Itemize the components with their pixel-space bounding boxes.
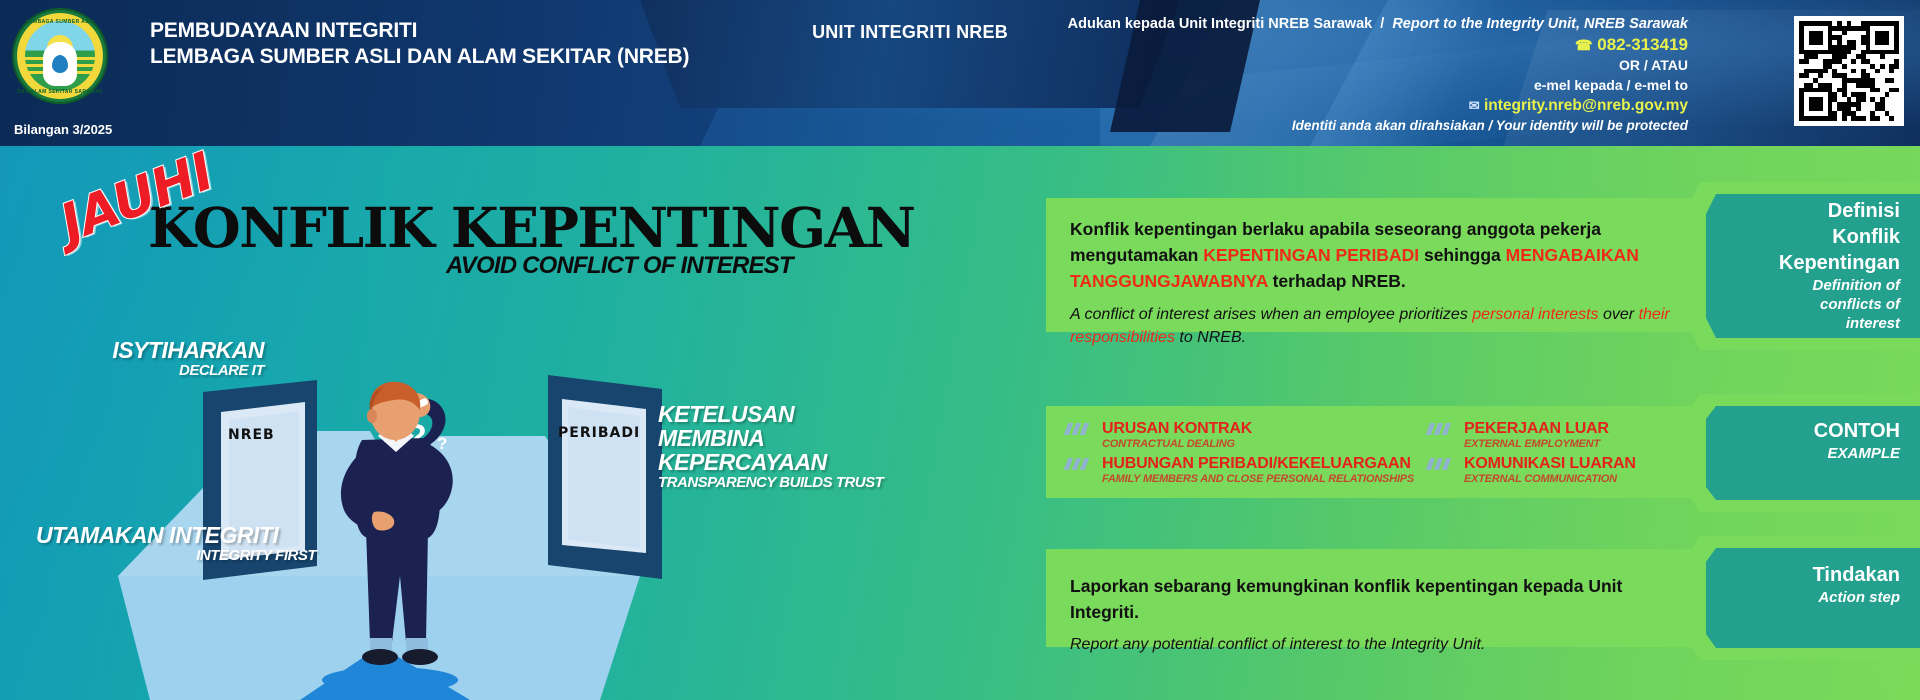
side-label-definition-ms-1: Definisi bbox=[1700, 198, 1900, 224]
side-label-action: Tindakan Action step bbox=[1700, 562, 1900, 607]
qr-code[interactable] bbox=[1794, 16, 1904, 126]
org-title: PEMBUDAYAAN INTEGRITI LEMBAGA SUMBER ASL… bbox=[150, 18, 689, 70]
nreb-logo: LEMBAGA SUMBER ASLI DAN ALAM SEKITAR SAR… bbox=[12, 8, 108, 104]
card-action: Laporkan sebarang kemungkinan konflik ke… bbox=[1046, 549, 1706, 647]
email-label: e-mel kepada / e-mel to bbox=[968, 75, 1688, 95]
action-text-en: Report any potential conflict of interes… bbox=[1070, 633, 1682, 657]
label-integrity-first-ms: UTAMAKAN INTEGRITI bbox=[36, 523, 316, 547]
side-label-definition: Definisi Konflik Kepentingan Definition … bbox=[1700, 198, 1900, 333]
side-label-definition-en-1: Definition of bbox=[1700, 276, 1900, 295]
report-line-ms: Adukan kepada Unit Integriti NREB Sarawa… bbox=[1068, 16, 1373, 32]
definition-en-c: to NREB. bbox=[1175, 329, 1246, 346]
definition-ms-red1: KEPENTINGAN PERIBADI bbox=[1203, 245, 1419, 265]
definition-ms-b: sehingga bbox=[1419, 245, 1506, 265]
definition-text-en: A conflict of interest arises when an em… bbox=[1070, 303, 1682, 349]
report-contact-block: Adukan kepada Unit Integriti NREB Sarawa… bbox=[968, 14, 1688, 135]
poster-canvas: LEMBAGA SUMBER ASLI DAN ALAM SEKITAR SAR… bbox=[0, 0, 1920, 700]
example-item-ms: PEKERJAAN LUAR bbox=[1464, 420, 1708, 438]
phone-icon: ☎ bbox=[1575, 37, 1592, 53]
example-item: KOMUNIKASI LUARAN EXTERNAL COMMUNICATION bbox=[1428, 455, 1708, 485]
side-label-action-en: Action step bbox=[1700, 588, 1900, 607]
or-atau-label: OR / ATAU bbox=[968, 56, 1688, 75]
email-row[interactable]: ✉ integrity.nreb@nreb.gov.my bbox=[968, 95, 1688, 116]
phone-row[interactable]: ☎ 082-313419 bbox=[968, 34, 1688, 56]
logo-text-bottom: DAN ALAM SEKITAR SARAWAK bbox=[12, 89, 108, 95]
report-line: Adukan kepada Unit Integriti NREB Sarawa… bbox=[968, 14, 1688, 34]
issue-number: Bilangan 3/2025 bbox=[14, 122, 112, 137]
email-address: integrity.nreb@nreb.gov.my bbox=[1484, 97, 1688, 114]
example-item-ms: URUSAN KONTRAK bbox=[1102, 420, 1446, 438]
page-header: LEMBAGA SUMBER ASLI DAN ALAM SEKITAR SAR… bbox=[0, 0, 1920, 146]
example-item-en: FAMILY MEMBERS AND CLOSE PERSONAL RELATI… bbox=[1102, 473, 1446, 485]
side-label-definition-ms-3: Kepentingan bbox=[1700, 250, 1900, 276]
label-integrity-first: UTAMAKAN INTEGRITI INTEGRITY FIRST bbox=[36, 523, 316, 564]
confused-man-illustration bbox=[310, 380, 510, 700]
definition-ms-c: terhadap NREB. bbox=[1268, 271, 1406, 291]
hero-subtitle: AVOID CONFLICT OF INTEREST bbox=[446, 252, 793, 280]
dash-marks-icon bbox=[1426, 458, 1458, 470]
definition-en-a: A conflict of interest arises when an em… bbox=[1070, 306, 1472, 323]
hero-title: KONFLIK KEPENTINGAN bbox=[148, 195, 915, 260]
card-examples: URUSAN KONTRAK CONTRACTUAL DEALING HUBUN… bbox=[1046, 406, 1706, 498]
dash-marks-icon bbox=[1064, 423, 1096, 435]
example-item-en: CONTRACTUAL DEALING bbox=[1102, 438, 1446, 450]
label-transparency-en: TRANSPARENCY BUILDS TRUST bbox=[658, 474, 898, 491]
definition-en-red1: personal interests bbox=[1472, 306, 1598, 323]
door-right-peribadi bbox=[540, 375, 670, 590]
example-item: PEKERJAAN LUAR EXTERNAL EMPLOYMENT bbox=[1428, 420, 1708, 450]
examples-column-left: URUSAN KONTRAK CONTRACTUAL DEALING HUBUN… bbox=[1066, 420, 1446, 490]
phone-number: 082-313419 bbox=[1597, 35, 1688, 54]
door-left-label: NREB bbox=[228, 427, 275, 443]
side-label-definition-en-2: conflicts of bbox=[1700, 295, 1900, 314]
action-text-ms: Laporkan sebarang kemungkinan konflik ke… bbox=[1070, 573, 1682, 625]
label-transparency: KETELUSAN MEMBINA KEPERCAYAAN TRANSPAREN… bbox=[658, 402, 898, 491]
logo-text-top: LEMBAGA SUMBER ASLI bbox=[12, 19, 108, 25]
side-label-example-en: EXAMPLE bbox=[1700, 444, 1900, 463]
label-declare-it-ms: ISYTIHARKAN bbox=[104, 338, 264, 362]
example-item-en: EXTERNAL EMPLOYMENT bbox=[1464, 438, 1708, 450]
identity-protected-note: Identiti anda akan dirahsiakan / Your id… bbox=[968, 116, 1688, 135]
dash-marks-icon bbox=[1064, 458, 1096, 470]
side-label-action-ms: Tindakan bbox=[1700, 562, 1900, 588]
org-title-line1: PEMBUDAYAAN INTEGRITI bbox=[150, 18, 689, 44]
label-integrity-first-en: INTEGRITY FIRST bbox=[36, 547, 316, 564]
org-title-line2: LEMBAGA SUMBER ASLI DAN ALAM SEKITAR (NR… bbox=[150, 44, 689, 70]
label-declare-it: ISYTIHARKAN DECLARE IT bbox=[104, 338, 264, 379]
label-declare-it-en: DECLARE IT bbox=[104, 362, 264, 379]
label-transparency-ms-2: KEPERCAYAAN bbox=[658, 450, 898, 474]
definition-en-b: over bbox=[1599, 306, 1639, 323]
label-transparency-ms-1: KETELUSAN MEMBINA bbox=[658, 402, 898, 450]
report-line-en: Report to the Integrity Unit, NREB Saraw… bbox=[1392, 16, 1688, 32]
example-item: URUSAN KONTRAK CONTRACTUAL DEALING bbox=[1066, 420, 1446, 450]
example-item-en: EXTERNAL COMMUNICATION bbox=[1464, 473, 1708, 485]
side-label-definition-ms-2: Konflik bbox=[1700, 224, 1900, 250]
side-label-example-ms: CONTOH bbox=[1700, 418, 1900, 444]
dash-marks-icon bbox=[1426, 423, 1458, 435]
mail-icon: ✉ bbox=[1469, 98, 1480, 113]
report-separator: / bbox=[1380, 16, 1384, 32]
examples-column-right: PEKERJAAN LUAR EXTERNAL EMPLOYMENT KOMUN… bbox=[1428, 420, 1708, 490]
example-item: HUBUNGAN PERIBADI/KEKELUARGAAN FAMILY ME… bbox=[1066, 455, 1446, 485]
side-label-definition-en-3: interest bbox=[1700, 314, 1900, 333]
card-definition: Konflik kepentingan berlaku apabila sese… bbox=[1046, 198, 1706, 332]
definition-text-ms: Konflik kepentingan berlaku apabila sese… bbox=[1070, 216, 1682, 294]
door-right-label: PERIBADI bbox=[558, 425, 640, 441]
example-item-ms: KOMUNIKASI LUARAN bbox=[1464, 455, 1708, 473]
example-item-ms: HUBUNGAN PERIBADI/KEKELUARGAAN bbox=[1102, 455, 1446, 473]
side-label-example: CONTOH EXAMPLE bbox=[1700, 418, 1900, 463]
